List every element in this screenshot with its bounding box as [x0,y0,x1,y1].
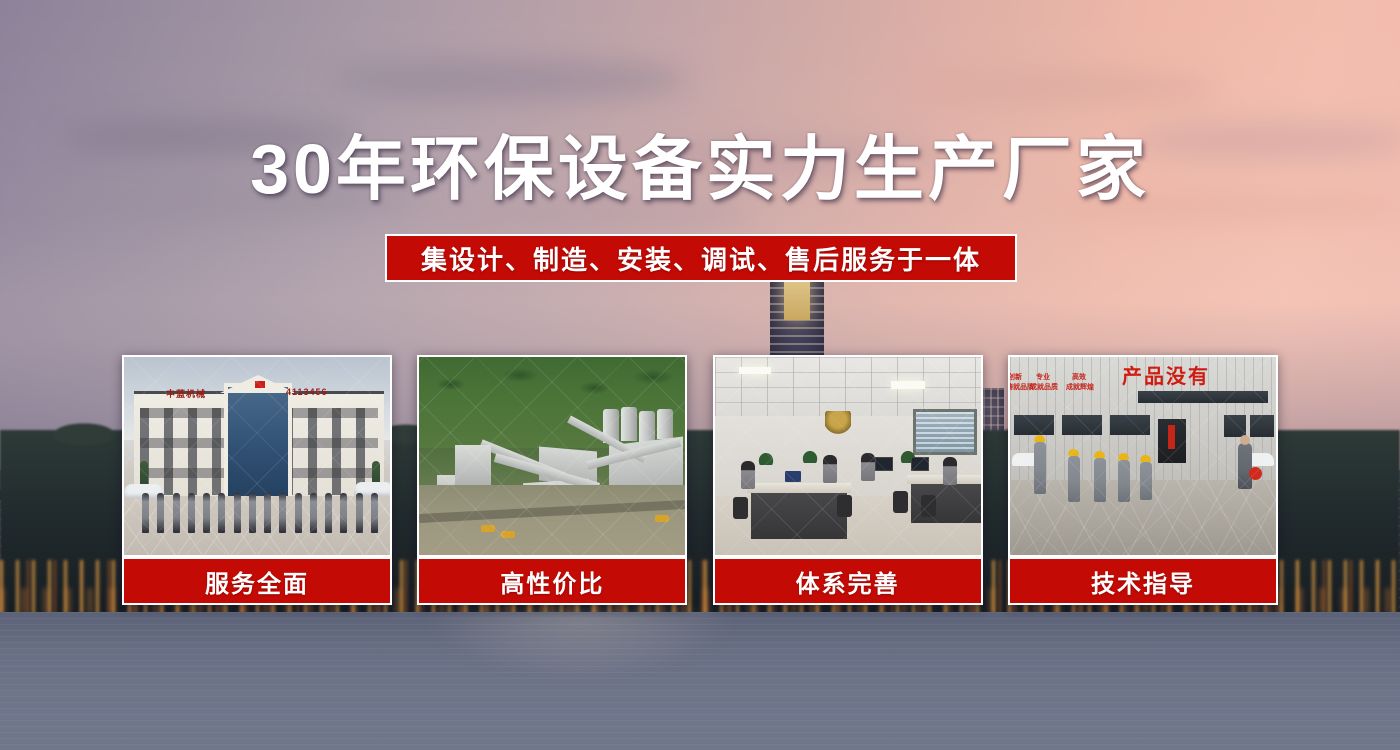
factory-slogan-1: 创新 [1008,373,1022,382]
card-caption: 体系完善 [713,557,983,605]
feature-card[interactable]: 高性价比 [417,355,687,605]
page-title: 30年环保设备实力生产厂家 [0,132,1400,206]
card-photo-office [713,355,983,557]
building-sign-text: 中蓝机械 [166,387,206,400]
factory-slogan-3b: 成就辉煌 [1066,383,1094,392]
supervisor-figure [1238,443,1252,489]
card-caption: 技术指导 [1008,557,1278,605]
factory-slogan-3: 高效 [1072,373,1086,382]
water-reflection [420,612,740,682]
factory-sign-text: 产品没有 [1122,360,1210,389]
feature-card[interactable]: 产品没有 创新 专业 高效 铸就品牌 成就品质 成就辉煌 [1008,355,1278,605]
card-photo-workers: 产品没有 创新 专业 高效 铸就品牌 成就品质 成就辉煌 [1008,355,1278,557]
red-helmet-icon [1249,467,1262,480]
wall-emblem-icon [825,411,851,435]
subtitle-banner: 集设计、制造、安装、调试、售后服务于一体 [385,234,1017,282]
flag-icon [255,381,265,388]
card-caption: 高性价比 [417,557,687,605]
card-photo-company-building: 中蓝机械 4113456 [122,355,392,557]
cloud [330,60,690,100]
building-phone-text: 4113456 [286,387,328,397]
card-photo-plant-aerial [417,355,687,557]
supervisor-head [1240,435,1250,445]
cloud [900,70,1220,106]
feature-card-row: 中蓝机械 4113456 [122,355,1278,605]
feature-card[interactable]: 中蓝机械 4113456 [122,355,392,605]
factory-slogan-2: 专业 [1036,373,1050,382]
factory-slogan-2b: 成就品质 [1030,383,1058,392]
feature-card[interactable]: 体系完善 [713,355,983,605]
hero-banner: 30年环保设备实力生产厂家 集设计、制造、安装、调试、售后服务于一体 中蓝机械 … [0,0,1400,750]
card-caption: 服务全面 [122,557,392,605]
